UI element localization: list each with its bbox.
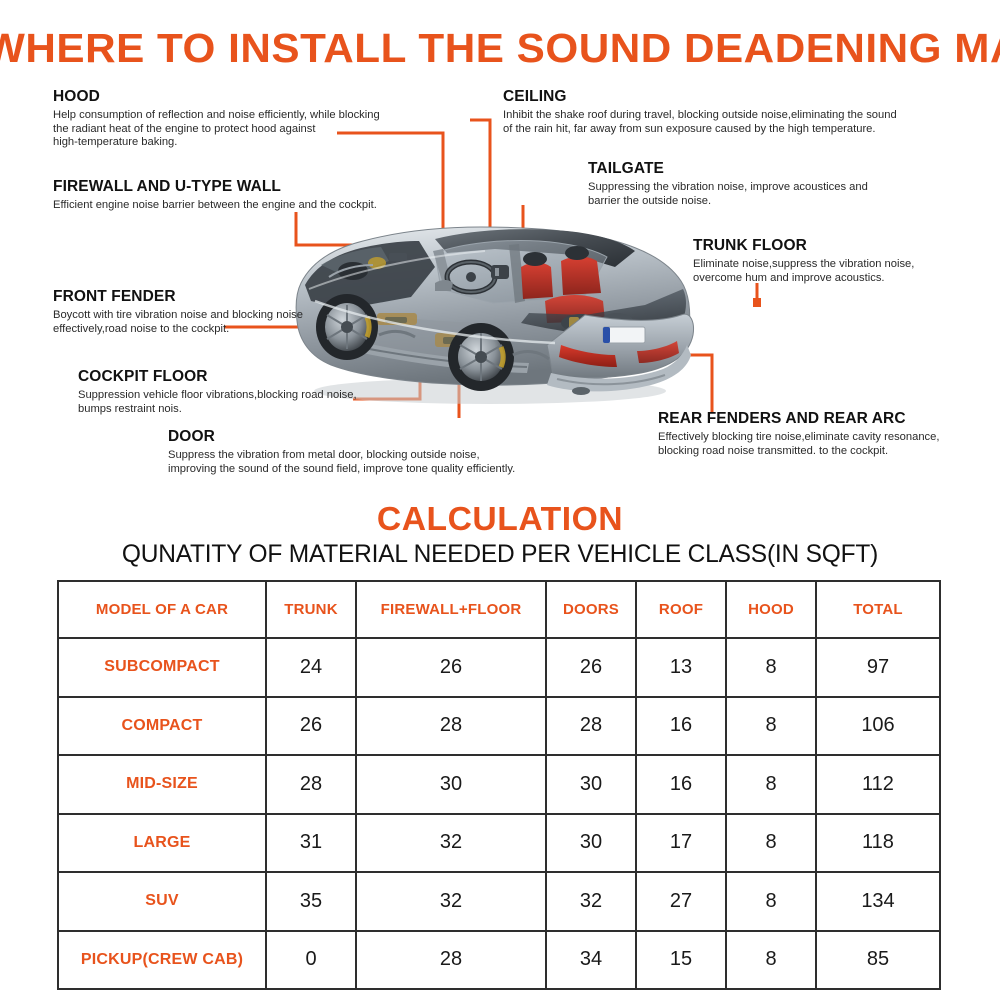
cell-trunk: 26 (266, 697, 356, 756)
cell-model: LARGE (58, 814, 266, 873)
table-row: SUV 35 32 32 27 8 134 (58, 872, 940, 931)
cell-hood: 8 (726, 872, 816, 931)
cell-doors: 28 (546, 697, 636, 756)
cell-firewall-floor: 30 (356, 755, 546, 814)
table-row: COMPACT 26 28 28 16 8 106 (58, 697, 940, 756)
cell-total: 134 (816, 872, 940, 931)
column-header-doors: DOORS (546, 581, 636, 638)
cell-firewall-floor: 32 (356, 872, 546, 931)
column-header-total: TOTAL (816, 581, 940, 638)
callout-cockpit-floor-body: Suppression vehicle floor vibrations,blo… (78, 389, 378, 416)
callout-rear-fenders-title: REAR FENDERS AND REAR ARC (658, 410, 978, 428)
cell-total: 97 (816, 638, 940, 697)
callout-firewall-body: Efficient engine noise barrier between t… (53, 199, 383, 213)
table-row: SUBCOMPACT 24 26 26 13 8 97 (58, 638, 940, 697)
callout-tailgate-body: Suppressing the vibration noise, improve… (588, 181, 908, 208)
cell-doors: 30 (546, 755, 636, 814)
callout-cockpit-floor-title: COCKPIT FLOOR (78, 368, 378, 386)
column-header-roof: ROOF (636, 581, 726, 638)
cell-doors: 30 (546, 814, 636, 873)
cell-trunk: 28 (266, 755, 356, 814)
callout-door-body: Suppress the vibration from metal door, … (168, 449, 548, 476)
column-header-hood: HOOD (726, 581, 816, 638)
cell-roof: 17 (636, 814, 726, 873)
table-header-row: MODEL OF A CAR TRUNK FIREWALL+FLOOR DOOR… (58, 581, 940, 638)
column-header-model: MODEL OF A CAR (58, 581, 266, 638)
column-header-trunk: TRUNK (266, 581, 356, 638)
cell-hood: 8 (726, 697, 816, 756)
cell-roof: 27 (636, 872, 726, 931)
cell-doors: 34 (546, 931, 636, 990)
cell-hood: 8 (726, 755, 816, 814)
cell-model: COMPACT (58, 697, 266, 756)
cell-model: SUBCOMPACT (58, 638, 266, 697)
cell-roof: 16 (636, 697, 726, 756)
cell-total: 118 (816, 814, 940, 873)
calculation-heading: CALCULATION (0, 500, 1000, 538)
callout-tailgate-title: TAILGATE (588, 160, 908, 178)
callout-firewall-title: FIREWALL AND U-TYPE WALL (53, 178, 383, 196)
callout-ceiling: CEILING Inhibit the shake roof during tr… (503, 88, 933, 136)
callout-tailgate: TAILGATE Suppressing the vibration noise… (588, 160, 908, 208)
cell-total: 112 (816, 755, 940, 814)
table-row: LARGE 31 32 30 17 8 118 (58, 814, 940, 873)
callout-ceiling-body: Inhibit the shake roof during travel, bl… (503, 109, 933, 136)
callout-front-fender-title: FRONT FENDER (53, 288, 353, 306)
callout-door: DOOR Suppress the vibration from metal d… (168, 428, 548, 476)
cell-hood: 8 (726, 638, 816, 697)
calculation-subheading: QUNATITY OF MATERIAL NEEDED PER VEHICLE … (10, 540, 990, 569)
cell-model: SUV (58, 872, 266, 931)
cell-roof: 16 (636, 755, 726, 814)
callout-hood-title: HOOD (53, 88, 403, 106)
callout-front-fender-body: Boycott with tire vibration noise and bl… (53, 309, 353, 336)
infographic-page: WHERE TO INSTALL THE SOUND DEADENING MAT… (0, 0, 1000, 1000)
callout-door-title: DOOR (168, 428, 548, 446)
callout-trunk-floor: TRUNK FLOOR Eliminate noise,suppress the… (693, 237, 983, 285)
cell-trunk: 0 (266, 931, 356, 990)
cell-total: 85 (816, 931, 940, 990)
callout-front-fender: FRONT FENDER Boycott with tire vibration… (53, 288, 353, 336)
cell-model: PICKUP(CREW CAB) (58, 931, 266, 990)
callout-rear-fenders-body: Effectively blocking tire noise,eliminat… (658, 431, 978, 458)
table-row: MID-SIZE 28 30 30 16 8 112 (58, 755, 940, 814)
cell-total: 106 (816, 697, 940, 756)
cell-firewall-floor: 26 (356, 638, 546, 697)
column-header-firewall-floor: FIREWALL+FLOOR (356, 581, 546, 638)
cell-model: MID-SIZE (58, 755, 266, 814)
callout-rear-fenders: REAR FENDERS AND REAR ARC Effectively bl… (658, 410, 978, 458)
cell-firewall-floor: 32 (356, 814, 546, 873)
cell-doors: 32 (546, 872, 636, 931)
material-quantity-table: MODEL OF A CAR TRUNK FIREWALL+FLOOR DOOR… (57, 580, 941, 990)
callout-trunk-floor-title: TRUNK FLOOR (693, 237, 983, 255)
cell-roof: 13 (636, 638, 726, 697)
cell-hood: 8 (726, 814, 816, 873)
cell-trunk: 24 (266, 638, 356, 697)
page-title: WHERE TO INSTALL THE SOUND DEADENING MAT… (0, 26, 1000, 70)
callout-hood: HOOD Help consumption of reflection and … (53, 88, 403, 150)
cell-firewall-floor: 28 (356, 931, 546, 990)
cell-doors: 26 (546, 638, 636, 697)
callout-ceiling-title: CEILING (503, 88, 933, 106)
table-row: PICKUP(CREW CAB) 0 28 34 15 8 85 (58, 931, 940, 990)
cell-trunk: 31 (266, 814, 356, 873)
cell-firewall-floor: 28 (356, 697, 546, 756)
cell-trunk: 35 (266, 872, 356, 931)
cell-roof: 15 (636, 931, 726, 990)
cell-hood: 8 (726, 931, 816, 990)
callout-firewall: FIREWALL AND U-TYPE WALL Efficient engin… (53, 178, 383, 213)
callout-hood-body: Help consumption of reflection and noise… (53, 109, 403, 150)
callout-trunk-floor-body: Eliminate noise,suppress the vibration n… (693, 258, 983, 285)
callout-cockpit-floor: COCKPIT FLOOR Suppression vehicle floor … (78, 368, 378, 416)
